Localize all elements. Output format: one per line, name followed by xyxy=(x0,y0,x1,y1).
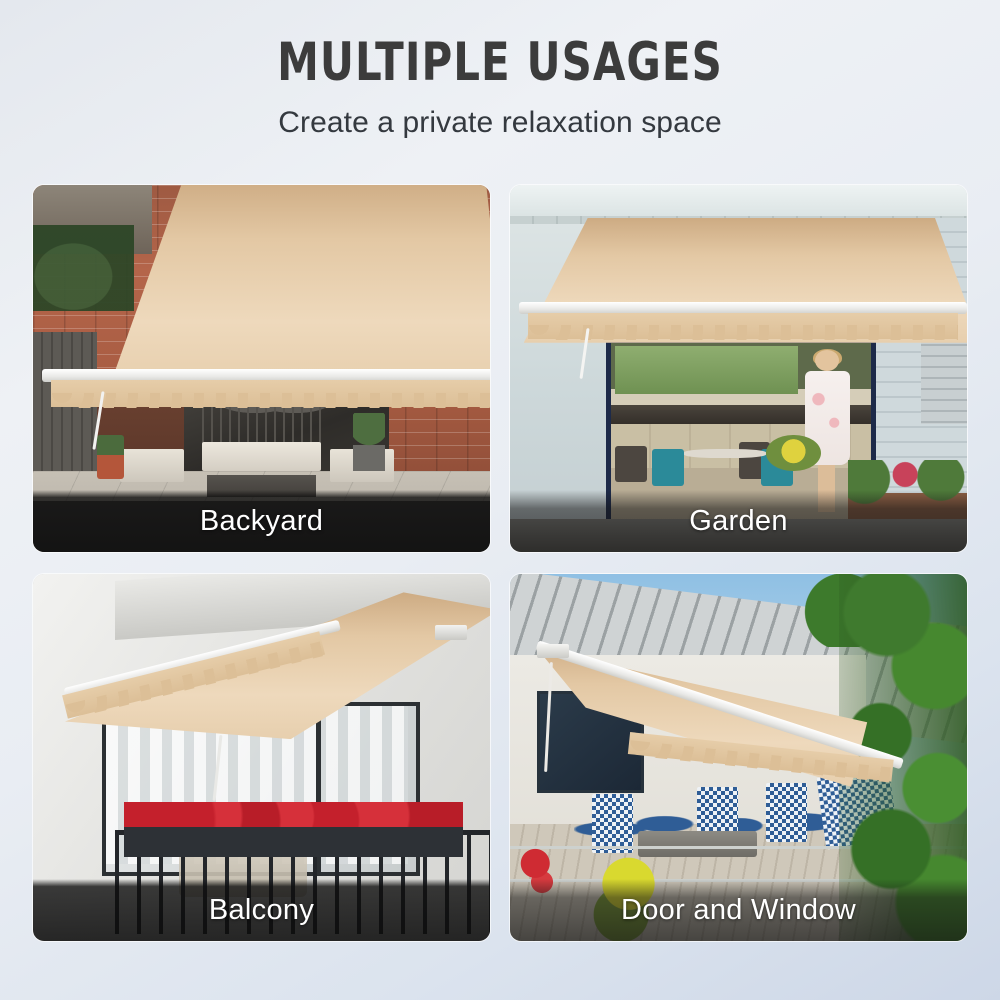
flower-boxes xyxy=(124,809,462,857)
flower-bouquet xyxy=(766,435,821,472)
usage-panel-garden[interactable]: Garden xyxy=(510,185,967,552)
dining-chair-teal-1 xyxy=(652,449,684,486)
bench-backrest xyxy=(202,405,321,445)
usage-panel-balcony[interactable]: Balcony xyxy=(33,574,490,941)
valance-scallop-edge xyxy=(51,393,490,408)
panel-label: Backyard xyxy=(200,505,323,538)
awning-mount-bracket xyxy=(537,644,569,659)
roof-soffit xyxy=(510,185,967,218)
head xyxy=(815,350,839,371)
panel-label-band: Garden xyxy=(510,490,967,552)
patio-chair-left xyxy=(120,449,184,482)
usage-panel-backyard[interactable]: Backyard xyxy=(33,185,490,552)
panel-label-band: Door and Window xyxy=(510,879,967,941)
valance-scallop-edge xyxy=(528,325,958,340)
topiary-plant xyxy=(353,413,385,472)
panel-label: Garden xyxy=(689,505,788,538)
promo-graphic: MULTIPLE USAGES Create a private relaxat… xyxy=(0,0,1000,1000)
header: MULTIPLE USAGES Create a private relaxat… xyxy=(0,0,1000,140)
panel-label-band: Backyard xyxy=(33,490,490,552)
dining-chair-dark-1 xyxy=(615,446,647,483)
checked-chair-1 xyxy=(592,794,633,853)
page-subtitle: Create a private relaxation space xyxy=(0,89,1000,140)
garden-gate xyxy=(33,332,97,493)
panel-label: Door and Window xyxy=(621,894,856,927)
woman-figure xyxy=(802,350,852,511)
awning-valance xyxy=(528,313,958,339)
usage-panel-grid: Backyard xyxy=(33,185,967,966)
awning-mount-bracket xyxy=(435,625,467,640)
checked-chair-3 xyxy=(766,783,807,842)
bench-seat xyxy=(202,442,321,471)
page-title: MULTIPLE USAGES xyxy=(60,0,940,89)
panel-label: Balcony xyxy=(209,894,314,927)
awning-roller-bar xyxy=(519,302,967,314)
awning-valance xyxy=(51,380,490,407)
potted-plant-left xyxy=(97,435,124,479)
panel-label-band: Balcony xyxy=(33,879,490,941)
dining-table xyxy=(684,449,766,458)
usage-panel-door-window[interactable]: Door and Window xyxy=(510,574,967,941)
window-field-view xyxy=(615,346,798,394)
